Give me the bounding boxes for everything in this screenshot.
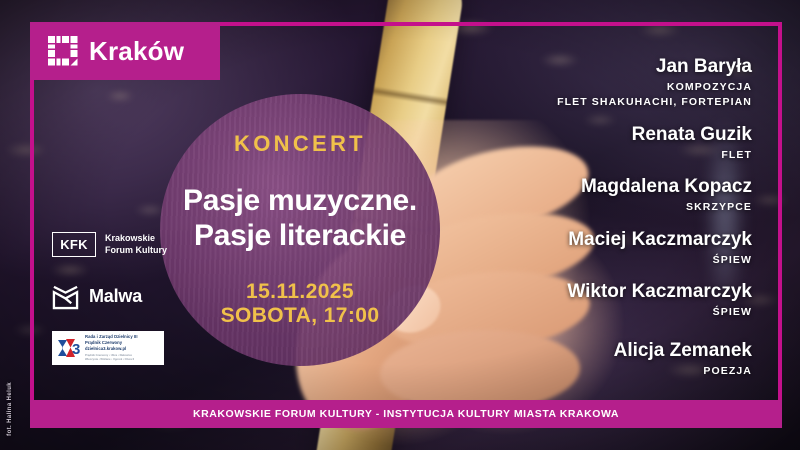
performer-role: ŚPIEW [422,305,752,320]
svg-text:3: 3 [72,341,80,358]
performer-role: KOMPOZYCJA [422,80,752,95]
performer-role: SKRZYPCE [422,200,752,215]
rada-text-block: Rada i Zarząd Dzielnicy III Prądnik Czer… [85,334,138,362]
performer-name: Renata Guzik [422,124,752,145]
performer-role: ŚPIEW [422,253,752,268]
performer-name: Magdalena Kopacz [422,176,752,197]
performer-item: Maciej Kaczmarczyk ŚPIEW [422,229,752,268]
kfk-text-line1: Krakowskie [105,233,167,245]
krakow-grid-icon [48,36,78,66]
kfk-text: Krakowskie Forum Kultury [105,233,167,256]
event-daytime: SOBOTA, 17:00 [221,304,380,329]
performer-name: Jan Baryła [422,56,752,77]
malwa-logo: Malwa [52,283,232,310]
sponsor-logos: KFK Krakowskie Forum Kultury Malwa 3 Rad… [52,232,232,365]
performer-item: Magdalena Kopacz SKRZYPCE [422,176,752,215]
performer-item: Jan Baryła KOMPOZYCJA FLET SHAKUHACHI, F… [422,56,752,111]
malwa-m-icon [52,283,79,310]
performer-name: Maciej Kaczmarczyk [422,229,752,250]
performer-role: POEZJA [422,364,752,379]
district-3-icon: 3 [57,336,81,360]
performer-role-secondary: FLET SHAKUHACHI, FORTEPIAN [422,95,752,110]
rada-line3: dzielnica3.krakow.pl [85,346,138,352]
kfk-logo: KFK Krakowskie Forum Kultury [52,232,232,257]
performer-role: FLET [422,148,752,163]
kfk-mark: KFK [52,232,96,257]
performer-item: Alicja Zemanek POEZJA [422,340,752,379]
concert-poster: Kraków KONCERT Pasje muzyczne. Pasje lit… [0,0,800,450]
footer-bar: KRAKOWSKIE FORUM KULTURY - INSTYTUCJA KU… [30,400,782,428]
performer-item: Wiktor Kaczmarczyk ŚPIEW [422,281,752,320]
event-title-line1: Pasje muzyczne. [183,183,417,218]
performer-name: Wiktor Kaczmarczyk [422,281,752,302]
malwa-text: Malwa [89,286,142,307]
performer-item: Renata Guzik FLET [422,124,752,163]
event-kicker: KONCERT [234,131,366,157]
footer-text: KRAKOWSKIE FORUM KULTURY - INSTYTUCJA KU… [193,408,619,420]
event-date: 15.11.2025 [246,280,354,305]
performer-name: Alicja Zemanek [422,340,752,361]
krakow-logo-text: Kraków [89,38,184,64]
performer-list: Jan Baryła KOMPOZYCJA FLET SHAKUHACHI, F… [422,56,752,392]
rada-dzielnicy-logo: 3 Rada i Zarząd Dzielnicy III Prądnik Cz… [52,331,164,365]
rada-fine-line2: Wieczysta • Wiślane • Ugorek • Olsza II [85,358,138,362]
kfk-text-line2: Forum Kultury [105,245,167,257]
krakow-logo-badge: Kraków [30,22,220,80]
photo-credit: fot. Halina Heluk [7,382,13,436]
